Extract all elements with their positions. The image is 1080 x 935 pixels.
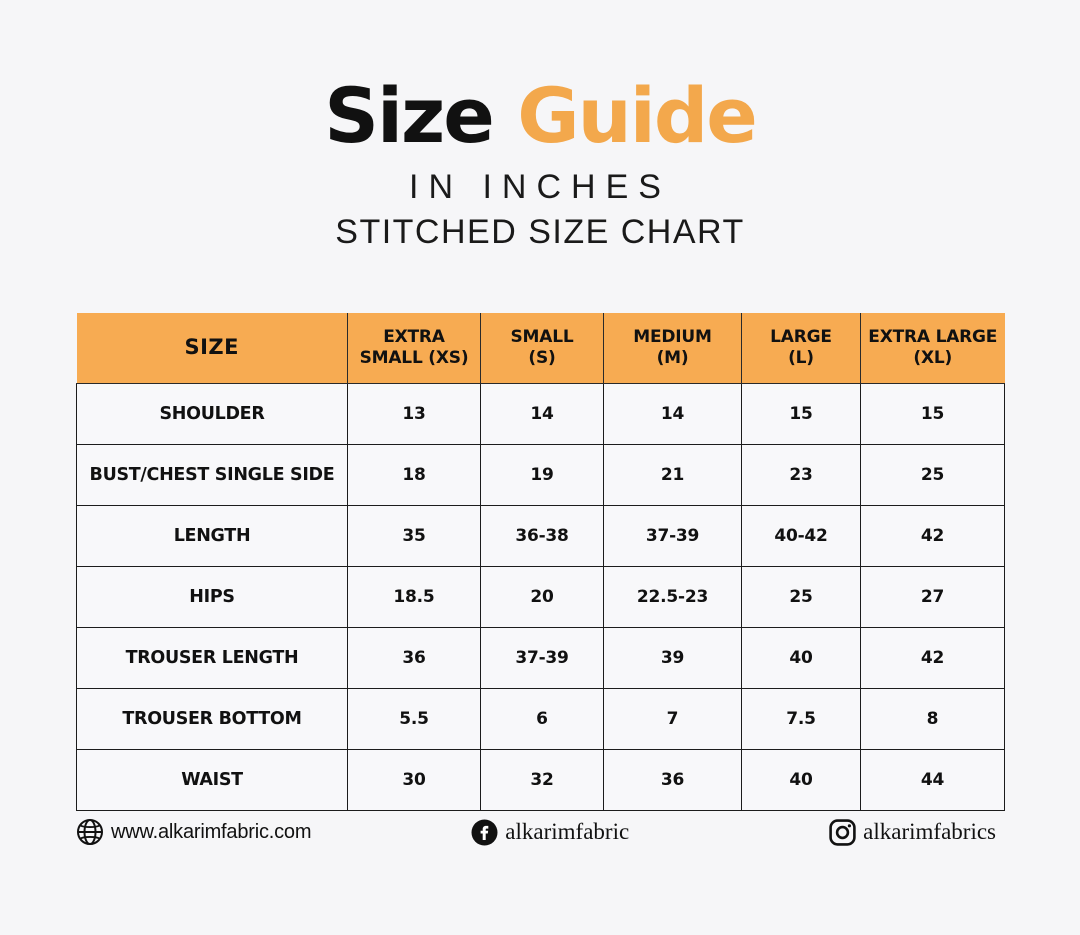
cell-xs: 36 bbox=[348, 628, 481, 689]
cell-s: 19 bbox=[481, 445, 604, 506]
row-label: TROUSER LENGTH bbox=[77, 628, 348, 689]
cell-l: 40 bbox=[742, 628, 861, 689]
cell-xs: 30 bbox=[348, 750, 481, 811]
subtitle-chart-type: STITCHED SIZE CHART bbox=[0, 213, 1080, 252]
table-row: HIPS 18.5 20 22.5-23 25 27 bbox=[77, 567, 1005, 628]
row-label: BUST/CHEST SINGLE SIDE bbox=[77, 445, 348, 506]
cell-m: 22.5-23 bbox=[604, 567, 742, 628]
table-row: BUST/CHEST SINGLE SIDE 18 19 21 23 25 bbox=[77, 445, 1005, 506]
row-label: LENGTH bbox=[77, 506, 348, 567]
cell-xl: 42 bbox=[861, 628, 1005, 689]
website-link[interactable]: www.alkarimfabric.com bbox=[76, 818, 311, 846]
column-header-size: SIZE bbox=[77, 313, 348, 384]
cell-l: 40-42 bbox=[742, 506, 861, 567]
table-header: SIZE EXTRA SMALL (XS) SMALL (S) MEDIUM (… bbox=[77, 313, 1005, 384]
cell-s: 36-38 bbox=[481, 506, 604, 567]
footer: www.alkarimfabric.com alkarimfabric alka… bbox=[76, 818, 1004, 846]
column-header-small: SMALL (S) bbox=[481, 313, 604, 384]
cell-xl: 25 bbox=[861, 445, 1005, 506]
instagram-link[interactable]: alkarimfabrics bbox=[829, 819, 996, 846]
cell-xs: 35 bbox=[348, 506, 481, 567]
column-header-medium: MEDIUM (M) bbox=[604, 313, 742, 384]
title-block: Size Guide IN INCHES STITCHED SIZE CHART bbox=[0, 0, 1080, 252]
cell-m: 7 bbox=[604, 689, 742, 750]
cell-m: 14 bbox=[604, 384, 742, 445]
cell-xs: 18.5 bbox=[348, 567, 481, 628]
cell-xl: 15 bbox=[861, 384, 1005, 445]
row-label: HIPS bbox=[77, 567, 348, 628]
cell-l: 25 bbox=[742, 567, 861, 628]
cell-l: 40 bbox=[742, 750, 861, 811]
cell-xl: 27 bbox=[861, 567, 1005, 628]
cell-xl: 42 bbox=[861, 506, 1005, 567]
cell-xs: 18 bbox=[348, 445, 481, 506]
row-label: SHOULDER bbox=[77, 384, 348, 445]
cell-m: 37-39 bbox=[604, 506, 742, 567]
cell-l: 23 bbox=[742, 445, 861, 506]
cell-s: 20 bbox=[481, 567, 604, 628]
title-word-size: Size bbox=[324, 71, 493, 160]
cell-s: 32 bbox=[481, 750, 604, 811]
page-title: Size Guide bbox=[0, 78, 1080, 154]
size-chart-table-container: SIZE EXTRA SMALL (XS) SMALL (S) MEDIUM (… bbox=[76, 313, 1004, 811]
cell-s: 37-39 bbox=[481, 628, 604, 689]
table-row: SHOULDER 13 14 14 15 15 bbox=[77, 384, 1005, 445]
instagram-label: alkarimfabrics bbox=[863, 819, 996, 845]
instagram-icon bbox=[829, 819, 856, 846]
table-row: LENGTH 35 36-38 37-39 40-42 42 bbox=[77, 506, 1005, 567]
size-chart-table: SIZE EXTRA SMALL (XS) SMALL (S) MEDIUM (… bbox=[76, 313, 1005, 811]
globe-icon bbox=[76, 818, 104, 846]
table-row: TROUSER LENGTH 36 37-39 39 40 42 bbox=[77, 628, 1005, 689]
cell-s: 6 bbox=[481, 689, 604, 750]
facebook-label: alkarimfabric bbox=[505, 819, 629, 845]
cell-m: 21 bbox=[604, 445, 742, 506]
cell-xl: 8 bbox=[861, 689, 1005, 750]
subtitle-units: IN INCHES bbox=[0, 168, 1080, 207]
cell-l: 7.5 bbox=[742, 689, 861, 750]
row-label: TROUSER BOTTOM bbox=[77, 689, 348, 750]
cell-xl: 44 bbox=[861, 750, 1005, 811]
website-label: www.alkarimfabric.com bbox=[111, 821, 311, 844]
table-body: SHOULDER 13 14 14 15 15 BUST/CHEST SINGL… bbox=[77, 384, 1005, 811]
column-header-extra-large: EXTRA LARGE (XL) bbox=[861, 313, 1005, 384]
cell-xs: 5.5 bbox=[348, 689, 481, 750]
table-row: TROUSER BOTTOM 5.5 6 7 7.5 8 bbox=[77, 689, 1005, 750]
cell-l: 15 bbox=[742, 384, 861, 445]
column-header-extra-small: EXTRA SMALL (XS) bbox=[348, 313, 481, 384]
table-header-row: SIZE EXTRA SMALL (XS) SMALL (S) MEDIUM (… bbox=[77, 313, 1005, 384]
facebook-link[interactable]: alkarimfabric bbox=[471, 819, 629, 846]
cell-s: 14 bbox=[481, 384, 604, 445]
column-header-large: LARGE (L) bbox=[742, 313, 861, 384]
title-word-guide: Guide bbox=[517, 71, 755, 160]
table-row: WAIST 30 32 36 40 44 bbox=[77, 750, 1005, 811]
row-label: WAIST bbox=[77, 750, 348, 811]
cell-m: 36 bbox=[604, 750, 742, 811]
facebook-icon bbox=[471, 819, 498, 846]
cell-xs: 13 bbox=[348, 384, 481, 445]
cell-m: 39 bbox=[604, 628, 742, 689]
